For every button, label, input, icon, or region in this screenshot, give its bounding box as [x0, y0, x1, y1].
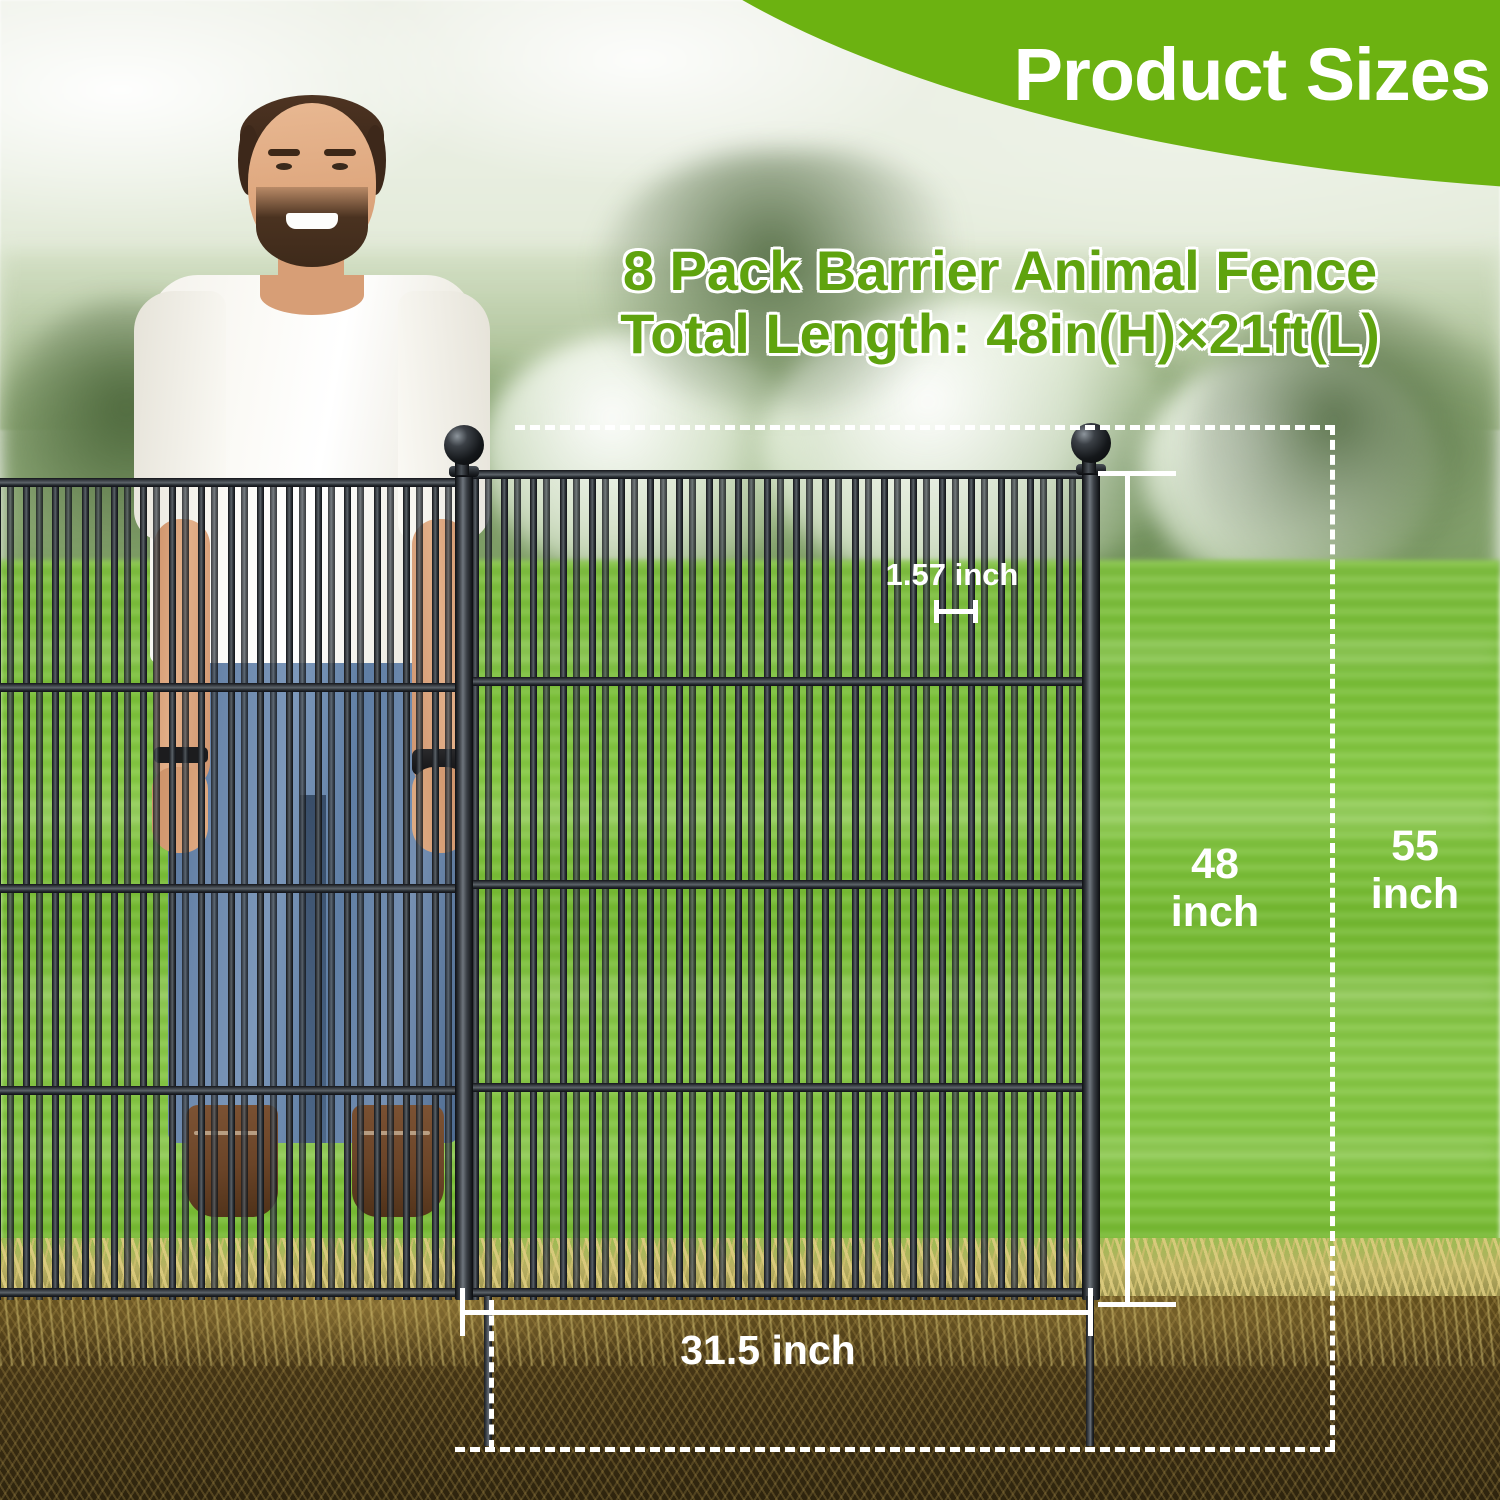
- fence-horizontal-rail: [0, 1288, 470, 1297]
- bottom-guide-dashed-line: [455, 1447, 1335, 1452]
- fence-post-ball-finial: [444, 425, 484, 465]
- fence-horizontal-rail: [0, 683, 470, 692]
- fence-horizontal-rail: [0, 478, 470, 487]
- height-48-line: [1125, 471, 1130, 1307]
- product-size-infographic: Product Sizes 8 Pack Barrier Animal Fenc…: [0, 0, 1500, 1500]
- eyebrow-right: [324, 149, 356, 156]
- height-55-value: 55: [1350, 822, 1480, 870]
- eyebrow-left: [268, 149, 300, 156]
- height-48-top-tick: [1098, 471, 1176, 476]
- width-315-label: 31.5 inch: [588, 1328, 948, 1374]
- top-guide-dashed-line: [515, 425, 1335, 430]
- fence-horizontal-rail: [0, 884, 470, 893]
- boot-right: [352, 1105, 444, 1217]
- width-315-line: [462, 1310, 1092, 1315]
- fence-post: [455, 470, 473, 1300]
- panel-left-dashed-line: [489, 1300, 494, 1450]
- height-55-label: 55 inch: [1350, 822, 1480, 918]
- eye-left: [276, 163, 292, 170]
- fence-horizontal-rail: [0, 1086, 470, 1095]
- gap-157-bracket-right: [973, 600, 978, 623]
- fence-horizontal-rail: [468, 677, 1100, 686]
- fence-horizontal-rail: [468, 1083, 1100, 1092]
- gap-157-label: 1.57 inch: [862, 558, 1042, 593]
- shirt-collar: [260, 275, 364, 315]
- fence-horizontal-rail: [468, 880, 1100, 889]
- headline-line-2: Total Length: 48in(H)×21ft(L): [560, 303, 1440, 366]
- headline-line-1: 8 Pack Barrier Animal Fence: [560, 240, 1440, 303]
- eye-right: [332, 163, 348, 170]
- gap-157-bracket-left: [934, 600, 939, 623]
- width-315-left-tick: [460, 1288, 465, 1336]
- height-48-value: 48: [1150, 840, 1280, 888]
- banner-title: Product Sizes: [830, 38, 1490, 112]
- total-height-dashed-line: [1330, 425, 1335, 1450]
- height-48-unit: inch: [1150, 888, 1280, 936]
- height-48-label: 48 inch: [1150, 840, 1280, 936]
- fence-post: [1082, 468, 1100, 1300]
- mouth: [286, 213, 338, 229]
- product-headline: 8 Pack Barrier Animal Fence Total Length…: [560, 240, 1440, 365]
- gap-157-bracket-bar: [934, 609, 978, 614]
- height-55-unit: inch: [1350, 870, 1480, 918]
- fence-horizontal-rail: [468, 1288, 1100, 1297]
- width-315-right-tick: [1088, 1288, 1093, 1336]
- height-48-bottom-tick: [1098, 1302, 1176, 1307]
- fence-horizontal-rail: [468, 470, 1100, 479]
